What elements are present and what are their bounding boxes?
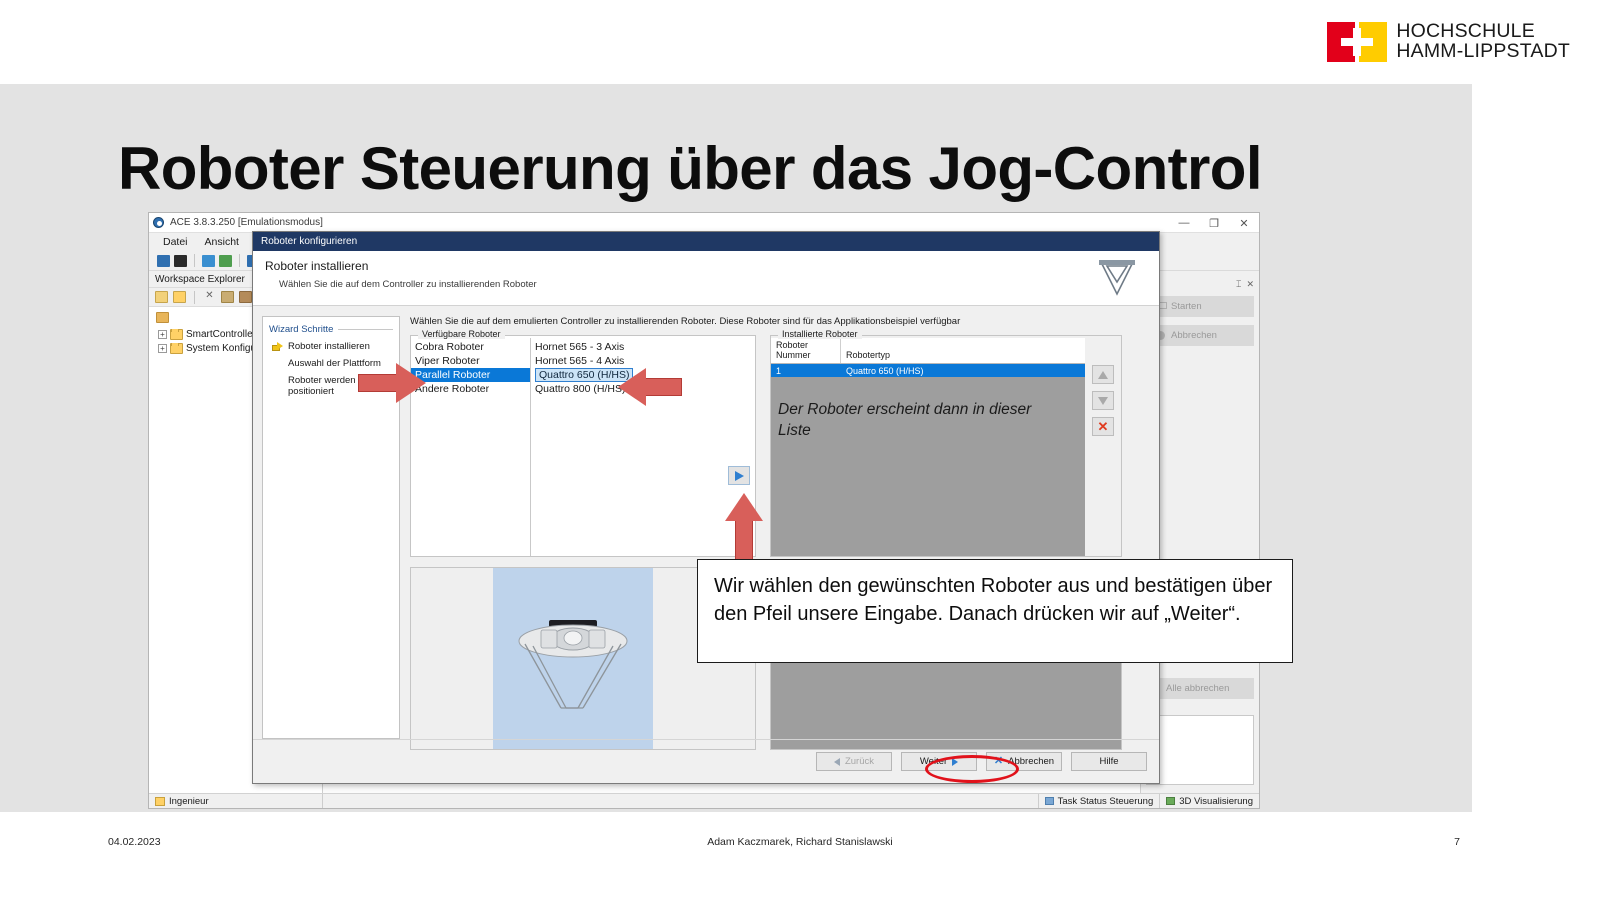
arrow-head xyxy=(618,368,646,406)
dialog-subheading: Wählen Sie die auf dem Controller zu ins… xyxy=(279,279,1159,290)
weiter-button-label: Weiter xyxy=(920,756,947,767)
ace-status-bar: Ingenieur Task Status Steuerung 3D Visua… xyxy=(149,793,1259,808)
close-x-icon: ✕ xyxy=(1098,420,1109,433)
folder-icon xyxy=(170,329,183,340)
network-icon[interactable] xyxy=(202,255,215,267)
abbrechen-button[interactable]: Abbrechen xyxy=(1146,325,1254,346)
logo-mark xyxy=(1327,22,1387,62)
arrow-left-icon xyxy=(834,758,840,766)
user-icon xyxy=(155,797,165,806)
wizard-legend-rule xyxy=(338,329,393,330)
folder-icon xyxy=(170,343,183,354)
dialog-heading: Roboter installieren xyxy=(265,259,1159,273)
dock-close-icon[interactable]: ✕ xyxy=(1246,279,1254,290)
category-parallel-roboter[interactable]: Parallel Roboter xyxy=(411,368,530,382)
copy-icon[interactable] xyxy=(221,291,234,303)
status-user-label: Ingenieur xyxy=(169,796,209,807)
workspace-root-icon xyxy=(156,312,169,323)
dialog-instruction-text: Wählen Sie die auf dem emulierten Contro… xyxy=(410,316,1150,327)
category-andere-roboter[interactable]: Andere Roboter xyxy=(411,382,530,396)
robot-lists-row: Verfügbare Roboter Cobra Roboter Viper R… xyxy=(410,335,1150,557)
column-header-line1: Roboter xyxy=(776,340,835,350)
zurueck-button[interactable]: Zurück xyxy=(816,752,892,771)
delete-icon[interactable]: ✕ xyxy=(203,291,216,303)
hochschule-hamm-lippstadt-logo: HOCHSCHULE HAMM-LIPPSTADT xyxy=(1327,22,1570,62)
model-hornet-565-3-axis[interactable]: Hornet 565 - 3 Axis xyxy=(531,340,755,354)
logo-line-2: HAMM-LIPPSTADT xyxy=(1396,42,1570,62)
dialog-main-content: Wählen Sie die auf dem emulierten Contro… xyxy=(410,316,1150,739)
page-title: Roboter Steuerung über das Jog-Control xyxy=(118,134,1368,203)
footer-page-number: 7 xyxy=(1420,836,1460,848)
roboter-konfigurieren-dialog: Roboter konfigurieren Roboter installier… xyxy=(252,231,1160,784)
wizard-legend: Wizard Schritte xyxy=(269,324,393,335)
slide-canvas: HOCHSCHULE HAMM-LIPPSTADT Roboter Steuer… xyxy=(0,0,1600,900)
ace-window-title: ACE 3.8.3.250 [Emulationsmodus] xyxy=(170,217,323,228)
save-icon[interactable] xyxy=(157,255,170,267)
logo-notch-vertical xyxy=(1353,28,1361,56)
logo-wordmark: HOCHSCHULE HAMM-LIPPSTADT xyxy=(1396,22,1570,62)
minimize-icon[interactable]: — xyxy=(1169,213,1199,233)
category-viper-roboter[interactable]: Viper Roboter xyxy=(411,354,530,368)
hilfe-button[interactable]: Hilfe xyxy=(1071,752,1147,771)
wizard-legend-label: Wizard Schritte xyxy=(269,324,333,335)
wizard-step-label: Roboter installieren xyxy=(288,341,370,352)
abbrechen-button-label: Abbrechen xyxy=(1008,756,1054,767)
dialog-header: Roboter installieren Wählen Sie die auf … xyxy=(253,251,1159,306)
cancel-x-icon: ✕ xyxy=(994,756,1003,767)
starten-button[interactable]: Starten xyxy=(1146,296,1254,317)
installed-robots-label: Installierte Roboter xyxy=(778,329,862,339)
robot-category-list[interactable]: Cobra Roboter Viper Roboter Parallel Rob… xyxy=(411,338,531,556)
menu-item-datei[interactable]: Datei xyxy=(163,236,188,248)
available-robots-label: Verfügbare Roboter xyxy=(418,329,505,339)
arrow-down-icon xyxy=(1098,397,1108,405)
add-robot-arrow-button[interactable] xyxy=(728,466,750,485)
column-header-roboter-nummer: Roboter Nummer xyxy=(771,338,841,363)
terminal-icon[interactable] xyxy=(219,255,232,267)
ace-app-icon xyxy=(153,217,164,228)
arrow-right-icon xyxy=(952,758,958,766)
move-down-button[interactable] xyxy=(1092,391,1114,410)
status-tabs: Task Status Steuerung 3D Visualisierung xyxy=(1038,794,1259,808)
arrow-quattro-650 xyxy=(618,368,682,406)
arrow-right-icon xyxy=(735,471,744,481)
installed-robots-group: Installierte Roboter Roboter Nummer Robo… xyxy=(770,335,1122,557)
starten-button-label: Starten xyxy=(1171,301,1202,312)
maximize-icon[interactable]: ❐ xyxy=(1199,213,1229,233)
wizard-step-roboter-installieren[interactable]: Roboter installieren xyxy=(269,341,393,352)
alle-abbrechen-button-label: Alle abbrechen xyxy=(1166,683,1229,694)
task-icon xyxy=(1045,797,1054,805)
dialog-title-bar: Roboter konfigurieren xyxy=(253,232,1159,251)
column-header-robotertyp: Robotertyp xyxy=(841,338,1085,363)
cell-roboter-nummer: 1 xyxy=(771,366,841,376)
paste-icon[interactable] xyxy=(239,291,252,303)
cube-icon xyxy=(1166,797,1175,805)
current-step-arrow-icon xyxy=(272,342,283,351)
available-robots-group: Verfügbare Roboter Cobra Roboter Viper R… xyxy=(410,335,756,557)
installed-robots-table[interactable]: Roboter Nummer Robotertyp 1 Quattro 650 … xyxy=(771,338,1085,556)
expander-icon[interactable]: + xyxy=(158,344,167,353)
table-row[interactable]: 1 Quattro 650 (H/HS) xyxy=(771,364,1085,377)
cell-robotertyp: Quattro 650 (H/HS) xyxy=(841,366,929,376)
remove-robot-button[interactable]: ✕ xyxy=(1092,417,1114,436)
arrow-shaft xyxy=(358,374,398,392)
status-tab-task-status[interactable]: Task Status Steuerung xyxy=(1038,794,1160,808)
binoculars-icon[interactable] xyxy=(174,255,187,267)
arrow-up-icon xyxy=(1098,371,1108,379)
annotation-grey-hint: Der Roboter erscheint dann in dieser Lis… xyxy=(778,400,1068,442)
close-icon[interactable]: ✕ xyxy=(1229,213,1259,233)
arrow-head xyxy=(725,493,763,521)
installed-side-buttons: ✕ xyxy=(1085,338,1121,556)
dock-pin-icon[interactable]: ⌶ xyxy=(1236,279,1241,290)
ace-title-bar: ACE 3.8.3.250 [Emulationsmodus] — ❐ ✕ xyxy=(149,213,1259,233)
zurueck-button-label: Zurück xyxy=(845,756,874,767)
dialog-footer: Zurück Weiter ✕ Abbrechen Hilfe xyxy=(253,739,1159,783)
footer-authors: Adam Kaczmarek, Richard Stanislawski xyxy=(0,836,1600,848)
toolbar-separator xyxy=(239,254,240,267)
annotation-callout-box: Wir wählen den gewünschten Roboter aus u… xyxy=(697,559,1293,663)
quattro-robot-image xyxy=(511,614,635,714)
abbrechen-button-label: Abbrechen xyxy=(1171,330,1217,341)
alle-abbrechen-button[interactable]: Alle abbrechen xyxy=(1146,678,1254,699)
arrow-shaft xyxy=(642,378,682,396)
move-up-button[interactable] xyxy=(1092,365,1114,384)
window-controls: — ❐ ✕ xyxy=(1169,213,1259,233)
robot-logo-icon xyxy=(1095,256,1139,300)
model-hornet-565-4-axis[interactable]: Hornet 565 - 4 Axis xyxy=(531,354,755,368)
right-panel-content-box xyxy=(1146,715,1254,785)
category-cobra-roboter[interactable]: Cobra Roboter xyxy=(411,340,530,354)
weiter-button[interactable]: Weiter xyxy=(901,752,977,771)
dock-panel-controls: ⌶ ✕ xyxy=(1146,279,1254,290)
status-tab-3d-visualisierung[interactable]: 3D Visualisierung xyxy=(1159,794,1259,808)
table-header-row: Roboter Nummer Robotertyp xyxy=(771,338,1085,364)
arrow-transfer-button xyxy=(725,493,763,565)
column-header-line2: Nummer xyxy=(776,350,835,360)
abbrechen-button[interactable]: ✕ Abbrechen xyxy=(986,752,1062,771)
expander-icon[interactable]: + xyxy=(158,330,167,339)
arrow-head xyxy=(396,363,426,403)
toolbar-separator xyxy=(194,291,195,304)
new-item-icon[interactable] xyxy=(155,291,168,303)
status-tab-label: 3D Visualisierung xyxy=(1179,796,1253,807)
open-folder-icon[interactable] xyxy=(173,291,186,303)
hilfe-button-label: Hilfe xyxy=(1099,756,1118,767)
menu-item-ansicht[interactable]: Ansicht xyxy=(205,236,239,248)
toolbar-separator xyxy=(194,254,195,267)
arrow-parallel-roboter xyxy=(358,363,426,403)
status-tab-label: Task Status Steuerung xyxy=(1058,796,1154,807)
status-user-section: Ingenieur xyxy=(149,794,323,808)
